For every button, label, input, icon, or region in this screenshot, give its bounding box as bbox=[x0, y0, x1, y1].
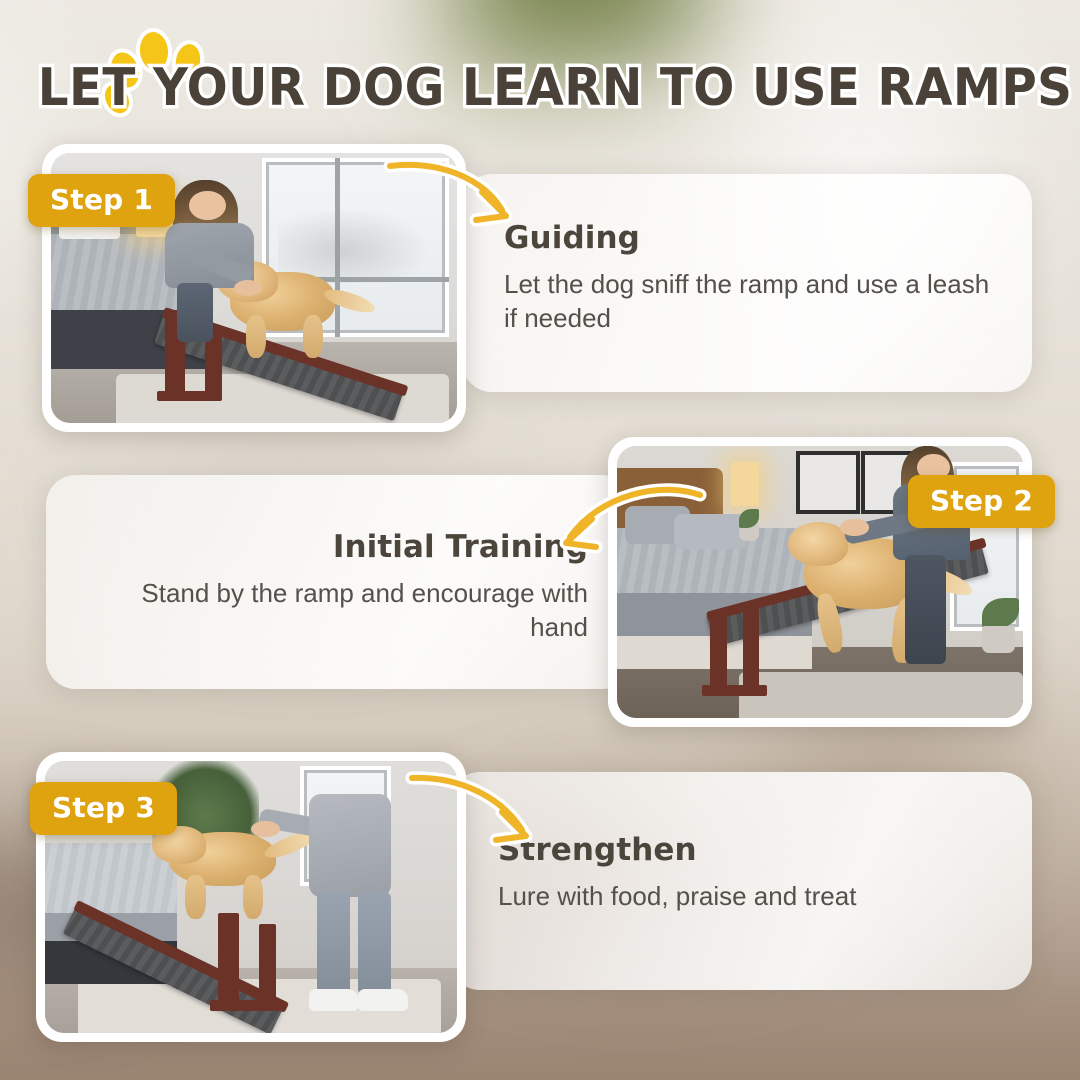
step-row-3: Strengthen Lure with food, praise and tr… bbox=[0, 744, 1080, 1044]
step-1-body: Let the dog sniff the ramp and use a lea… bbox=[504, 267, 990, 337]
step-3-heading: Strengthen bbox=[498, 834, 992, 867]
header: LET YOUR DOG LEARN TO USE RAMPS bbox=[0, 18, 1080, 122]
step-1-heading: Guiding bbox=[504, 222, 990, 255]
step-1-badge: Step 1 bbox=[28, 174, 175, 227]
step-2-heading: Initial Training bbox=[90, 531, 588, 564]
step-3-body: Lure with food, praise and treat bbox=[498, 879, 992, 914]
curved-arrow-right-down-icon bbox=[408, 772, 548, 862]
step-row-1: Guiding Let the dog sniff the ramp and u… bbox=[0, 136, 1080, 436]
step-3-badge: Step 3 bbox=[30, 782, 177, 835]
page-title: LET YOUR DOG LEARN TO USE RAMPS bbox=[38, 58, 1042, 118]
step-2-body: Stand by the ramp and encourage with han… bbox=[90, 576, 588, 646]
step-1-text-panel: Guiding Let the dog sniff the ramp and u… bbox=[462, 174, 1032, 392]
curved-arrow-right-down-icon bbox=[386, 158, 526, 238]
step-2-text-panel: Initial Training Stand by the ramp and e… bbox=[46, 475, 632, 689]
step-row-2: Initial Training Stand by the ramp and e… bbox=[0, 437, 1080, 727]
step-2-badge: Step 2 bbox=[908, 475, 1055, 528]
curved-arrow-left-down-icon bbox=[556, 477, 706, 567]
